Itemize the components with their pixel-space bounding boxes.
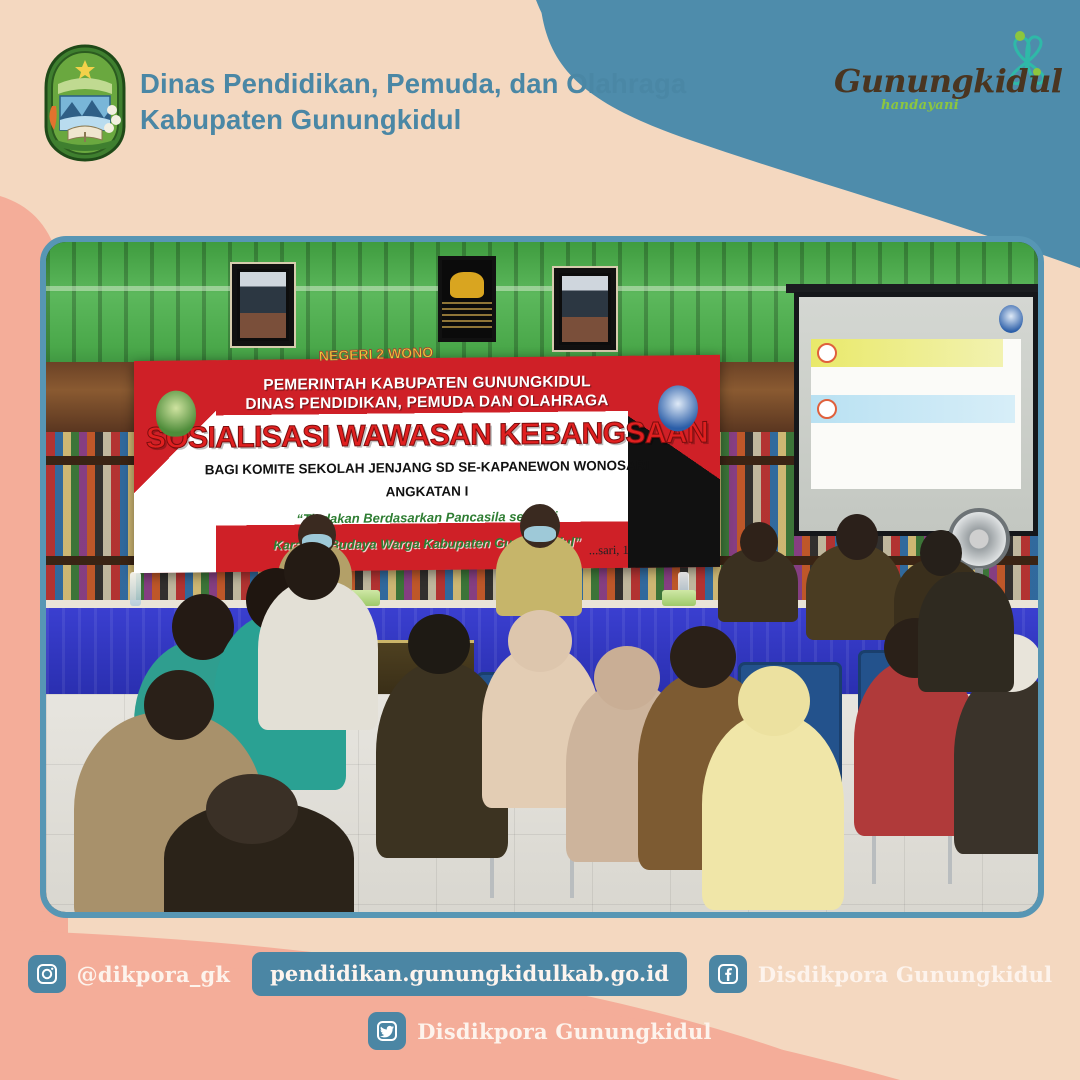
- facebook-link[interactable]: Disdikpora Gunungkidul: [709, 955, 1052, 993]
- projector-screen: [794, 292, 1038, 536]
- facebook-icon[interactable]: [709, 955, 747, 993]
- slide-band-yellow: [811, 339, 1003, 367]
- banner-sub-line-1: BAGI KOMITE SEKOLAH JENJANG SD SE-KAPANE…: [134, 456, 720, 480]
- gunungkidul-brand-logo: Gunungkidul handayani: [834, 28, 1064, 128]
- garuda-pancasila-icon: [438, 256, 496, 342]
- audience-head: [670, 626, 736, 688]
- audience-head: [836, 514, 878, 560]
- slide-band-blue: [811, 395, 1015, 423]
- footer-row-primary: @dikpora_gk pendidikan.gunungkidulkab.go…: [0, 952, 1080, 996]
- poster-canvas: Dinas Pendidikan, Pemuda, dan Olahraga K…: [0, 0, 1080, 1080]
- instagram-link[interactable]: @dikpora_gk: [28, 955, 231, 993]
- header-title-line-1: Dinas Pendidikan, Pemuda, dan Olahraga: [140, 66, 686, 102]
- audience-head-hijab: [738, 666, 810, 736]
- audience-head-cap: [206, 774, 298, 844]
- gunungkidul-coat-of-arms-icon: [42, 44, 128, 162]
- twitter-handle: Disdikpora Gunungkidul: [417, 1019, 711, 1044]
- banner-quote-line-2: Karakter Budaya Warga Kabupaten Gunungki…: [134, 532, 720, 556]
- brand-wordmark: Gunungkidul: [834, 62, 1030, 100]
- slide-logo-icon: [999, 305, 1023, 333]
- slide-bullet-1: [817, 343, 837, 363]
- audience-head: [920, 530, 962, 576]
- slide-bullet-2: [817, 399, 837, 419]
- audience-head: [144, 670, 214, 740]
- event-photo: PEMERINTAH KABUPATEN GUNUNGKIDUL DINAS P…: [46, 242, 1038, 912]
- banner-title: SOSIALISASI WAWASAN KEBANGSAAN: [134, 416, 720, 456]
- audience-head: [284, 542, 340, 600]
- header-title-block: Dinas Pendidikan, Pemuda, dan Olahraga K…: [140, 66, 686, 138]
- brand-tagline: handayani: [860, 98, 980, 113]
- tut-wuri-handayani-icon: [658, 385, 698, 431]
- header-title-line-2: Kabupaten Gunungkidul: [140, 102, 686, 138]
- instagram-handle: @dikpora_gk: [77, 962, 231, 987]
- vice-president-portrait-icon: [554, 268, 616, 350]
- footer-social-bar: @dikpora_gk pendidikan.gunungkidulkab.go…: [0, 930, 1080, 1080]
- twitter-link[interactable]: Disdikpora Gunungkidul: [368, 1012, 711, 1050]
- audience-member-hijab: [702, 714, 844, 910]
- banner-quote-line-1: “Tindakan Berdasarkan Pancasila sebagai: [134, 506, 720, 530]
- water-bottle: [130, 572, 141, 606]
- audience-head-hijab: [594, 646, 660, 710]
- banner-sub-line-2: ANGKATAN I: [134, 480, 720, 504]
- attendee-head-table-head: [740, 522, 778, 562]
- audience-head-songkok: [408, 614, 470, 674]
- event-photo-card: PEMERINTAH KABUPATEN GUNUNGKIDUL DINAS P…: [40, 236, 1044, 918]
- audience-member: [954, 672, 1038, 854]
- speaker-right-mask: [524, 526, 556, 542]
- gunungkidul-emblem-icon: [156, 390, 196, 436]
- facebook-page-name: Disdikpora Gunungkidul: [758, 962, 1052, 987]
- audience-member: [918, 572, 1014, 692]
- snack-box: [662, 590, 696, 606]
- header: Dinas Pendidikan, Pemuda, dan Olahraga K…: [0, 0, 1080, 200]
- president-portrait-icon: [232, 264, 294, 346]
- event-banner: PEMERINTAH KABUPATEN GUNUNGKIDUL DINAS P…: [134, 355, 720, 573]
- audience-head-hijab: [508, 610, 572, 672]
- website-url-button[interactable]: pendidikan.gunungkidulkab.go.id: [252, 952, 687, 996]
- footer-row-secondary: Disdikpora Gunungkidul: [0, 1012, 1080, 1050]
- twitter-icon[interactable]: [368, 1012, 406, 1050]
- instagram-icon[interactable]: [28, 955, 66, 993]
- audience-member: [258, 580, 378, 730]
